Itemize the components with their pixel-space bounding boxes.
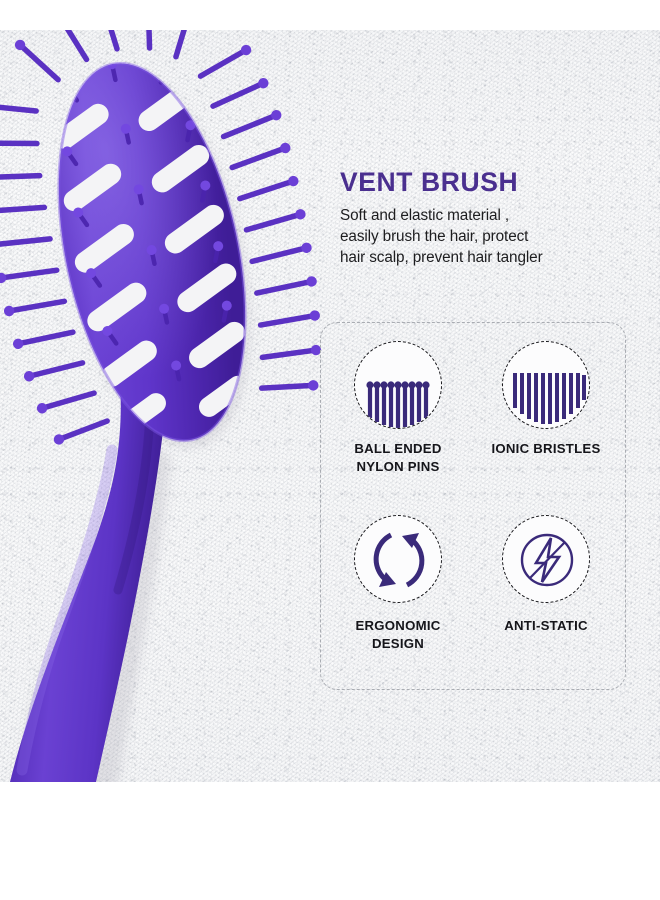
ball-ended-nylon-pins-icon — [354, 341, 442, 429]
anti-static-icon — [502, 515, 590, 603]
vent-brush-illustration — [0, 30, 330, 782]
feature-ionic-bristles: IONIC BRISTLES — [476, 341, 616, 458]
ionic-bristles-icon — [502, 341, 590, 429]
feature-label: IONIC BRISTLES — [476, 440, 616, 458]
feature-label: ANTI-STATIC — [476, 617, 616, 635]
product-description: Soft and elastic material , easily brush… — [340, 206, 630, 269]
feature-label: ERGONOMIC DESIGN — [328, 617, 468, 652]
page-title: VENT BRUSH — [340, 168, 630, 197]
ergonomic-design-icon — [354, 515, 442, 603]
feature-panel: BALL ENDED NYLON PINS — [320, 322, 626, 690]
feature-label: BALL ENDED NYLON PINS — [328, 440, 468, 475]
feature-ball-ended-nylon-pins: BALL ENDED NYLON PINS — [328, 341, 468, 475]
feature-ergonomic-design: ERGONOMIC DESIGN — [328, 515, 468, 652]
headline-block: VENT BRUSH Soft and elastic material , e… — [340, 168, 630, 269]
feature-anti-static: ANTI-STATIC — [476, 515, 616, 635]
product-infographic: VENT BRUSH Soft and elastic material , e… — [0, 0, 660, 900]
